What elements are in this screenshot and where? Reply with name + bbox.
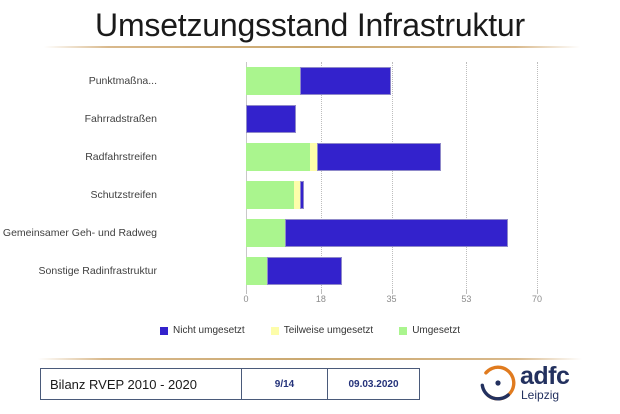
gridline [246, 62, 248, 290]
gridline [537, 62, 539, 290]
title-block: Umsetzungsstand Infrastruktur [38, 4, 582, 50]
category-label: Radfahrstreifen [85, 151, 157, 163]
bar-segment [246, 181, 294, 209]
category-label: Fahrradstraßen [85, 113, 157, 125]
bar-segment [246, 219, 285, 247]
footer-page-number: 9/14 [241, 369, 327, 399]
legend-label: Umgesetzt [412, 325, 460, 336]
axis-tick-label: 70 [532, 294, 542, 304]
adfc-ring-icon [480, 365, 516, 401]
gridline [321, 62, 323, 290]
gridline [392, 62, 394, 290]
legend-item[interactable]: Nicht umgesetzt [160, 325, 245, 336]
legend-swatch-icon [271, 327, 279, 335]
adfc-wordmark: adfc [520, 363, 569, 389]
axis-tick-label: 53 [461, 294, 471, 304]
adfc-logo: adfc Leipzig [480, 362, 612, 408]
category-label: Sonstige Radinfrastruktur [39, 265, 157, 277]
bar-segment [285, 219, 507, 247]
page-title: Umsetzungsstand Infrastruktur [38, 4, 582, 46]
adfc-city-label: Leipzig [521, 388, 559, 402]
category-label: Schutzstreifen [90, 189, 157, 201]
chart-legend: Nicht umgesetztTeilweise umgesetztUmgese… [0, 325, 620, 336]
legend-swatch-icon [160, 327, 168, 335]
footer-date: 09.03.2020 [327, 369, 419, 399]
footer-divider [38, 358, 582, 360]
bar-segment [267, 257, 342, 285]
legend-label: Nicht umgesetzt [173, 325, 245, 336]
legend-item[interactable]: Teilweise umgesetzt [271, 325, 373, 336]
bar-segment [246, 257, 267, 285]
footer-bar: Bilanz RVEP 2010 - 2020 9/14 09.03.2020 [40, 368, 420, 400]
legend-item[interactable]: Umgesetzt [399, 325, 460, 336]
category-label: Gemeinsamer Geh- und Radweg [3, 227, 157, 239]
bar-segment [246, 143, 310, 171]
chart-plot-area: 018355370Punktmaßna...FahrradstraßenRadf… [246, 62, 537, 290]
chart-container: 018355370Punktmaßna...FahrradstraßenRadf… [0, 58, 620, 308]
category-label: Punktmaßna... [89, 75, 157, 87]
slide-root: Umsetzungsstand Infrastruktur 018355370P… [0, 0, 620, 414]
bar-segment [300, 181, 304, 209]
legend-swatch-icon [399, 327, 407, 335]
bar-segment [246, 105, 296, 133]
title-divider [44, 46, 580, 48]
axis-tick-label: 18 [316, 294, 326, 304]
bar-segment [246, 67, 300, 95]
axis-tick-label: 35 [386, 294, 396, 304]
axis-tick-label: 0 [243, 294, 248, 304]
legend-label: Teilweise umgesetzt [284, 325, 373, 336]
bar-segment [317, 143, 442, 171]
gridline [466, 62, 468, 290]
bar-segment [300, 67, 391, 95]
footer-title: Bilanz RVEP 2010 - 2020 [41, 369, 241, 399]
